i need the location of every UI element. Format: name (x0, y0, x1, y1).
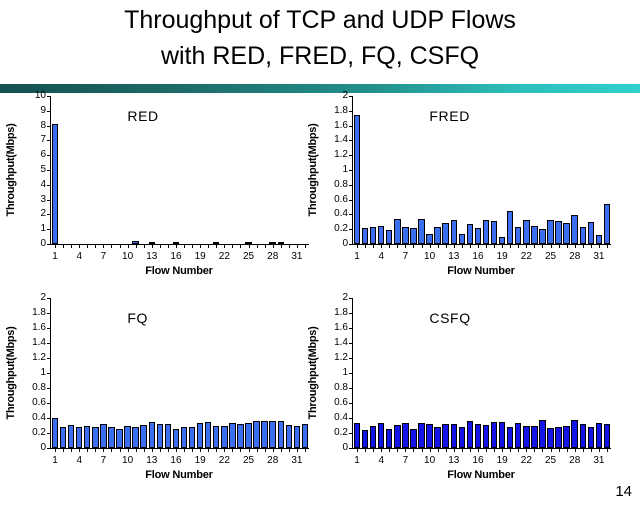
x-tick-mark (526, 449, 527, 452)
x-tick-mark (257, 449, 258, 452)
chart-red: Throughput(Mbps)012345678910147101316192… (4, 90, 316, 288)
bar (539, 229, 545, 244)
bar (555, 427, 561, 448)
bar (523, 220, 529, 244)
x-tick-label: 25 (243, 251, 254, 262)
y-tick-label: 1.6 (334, 324, 348, 332)
bar (483, 220, 489, 244)
x-tick-mark (281, 245, 282, 248)
bar (386, 429, 392, 448)
bar (459, 234, 465, 244)
x-tick-mark (502, 449, 503, 452)
x-tick-mark (494, 245, 495, 248)
bar (354, 423, 360, 448)
x-tick-mark (176, 449, 177, 452)
x-tick-mark (87, 245, 88, 248)
bar (539, 420, 545, 448)
bar (68, 425, 74, 448)
y-tick-label: 6 (40, 151, 46, 159)
x-tick-mark (510, 245, 511, 248)
bar (588, 427, 594, 448)
bar (149, 422, 155, 448)
bar (604, 424, 610, 448)
bar (278, 242, 284, 244)
x-tick-label: 7 (403, 251, 409, 262)
y-axis-label: Throughput(Mbps) (306, 96, 320, 244)
bar (588, 222, 594, 244)
bar (563, 426, 569, 448)
x-axis-line (50, 244, 309, 245)
chart-label-csfq: CSFQ (429, 310, 470, 326)
y-tick-label: 1.8 (32, 309, 46, 317)
plot-area-red (51, 96, 309, 244)
x-tick-label: 25 (243, 455, 254, 466)
x-tick-mark (103, 449, 104, 452)
plot-area-csfq (353, 298, 611, 448)
bar (491, 422, 497, 448)
bar (124, 426, 130, 449)
x-tick-label: 31 (593, 455, 604, 466)
bar (132, 427, 138, 448)
bar (555, 221, 561, 244)
x-tick-mark (240, 245, 241, 248)
bar (269, 242, 275, 244)
x-tick-mark (273, 449, 274, 452)
x-tick-mark (216, 245, 217, 248)
x-tick-mark (454, 245, 455, 248)
bar (386, 230, 392, 244)
x-tick-mark (63, 245, 64, 248)
x-tick-mark (63, 449, 64, 452)
y-tick-label: 1.8 (334, 309, 348, 317)
x-tick-label: 10 (122, 251, 133, 262)
y-tick-label: 1.2 (32, 354, 46, 362)
x-tick-mark (559, 449, 560, 452)
x-tick-mark (128, 245, 129, 248)
x-tick-mark (144, 449, 145, 452)
y-tick-label: 0.2 (334, 225, 348, 233)
y-tick-label: 0.6 (334, 196, 348, 204)
x-tick-mark (184, 449, 185, 452)
page-number: 14 (615, 483, 632, 500)
y-tick-label: 1 (40, 369, 46, 377)
bar (491, 221, 497, 244)
x-tick-mark (454, 449, 455, 452)
x-tick-mark (381, 449, 382, 452)
chart-label-red: RED (127, 108, 158, 124)
y-axis-label-text: Throughput(Mbps) (307, 327, 319, 420)
x-tick-mark (176, 245, 177, 248)
x-tick-mark (470, 449, 471, 452)
x-tick-mark (136, 449, 137, 452)
y-axis-label-text: Throughput(Mbps) (307, 124, 319, 217)
x-tick-label: 7 (403, 455, 409, 466)
bar (76, 427, 82, 448)
y-tick-label: 0 (40, 240, 46, 248)
bar (418, 423, 424, 448)
x-tick-mark (534, 449, 535, 452)
x-tick-mark (79, 245, 80, 248)
y-tick-label: 2 (40, 294, 46, 302)
y-axis-label-text: Throughput(Mbps) (5, 124, 17, 217)
bar (580, 424, 586, 448)
y-tick-label: 5 (40, 166, 46, 174)
x-tick-mark (607, 245, 608, 248)
y-tick-label: 1.6 (334, 122, 348, 130)
bar (149, 242, 155, 244)
x-tick-mark (136, 245, 137, 248)
y-tick-label: 0.6 (32, 399, 46, 407)
bar (189, 427, 195, 448)
x-tick-mark (216, 449, 217, 452)
chart-label-fred: FRED (429, 108, 470, 124)
x-axis-title: Flow Number (352, 265, 610, 277)
bar (547, 428, 553, 448)
x-tick-label: 22 (521, 251, 532, 262)
x-tick-label: 16 (472, 251, 483, 262)
y-tick-label: 1 (40, 225, 46, 233)
x-tick-mark (583, 245, 584, 248)
y-tick-label: 0.6 (334, 399, 348, 407)
x-tick-label: 10 (424, 251, 435, 262)
x-tick-label: 16 (170, 455, 181, 466)
bar (92, 427, 98, 448)
x-tick-mark (120, 449, 121, 452)
bar (596, 235, 602, 244)
x-tick-label: 19 (497, 251, 508, 262)
x-tick-mark (168, 245, 169, 248)
x-tick-mark (111, 449, 112, 452)
y-tick-label: 1.8 (334, 107, 348, 115)
bar (362, 430, 368, 448)
bar (362, 228, 368, 244)
y-tick-label: 2 (342, 92, 348, 100)
bar (459, 427, 465, 448)
y-axis-ticks: 00.20.40.60.811.21.41.61.82 (322, 96, 348, 244)
title-line-1: Throughput of TCP and UDP Flows (0, 2, 640, 38)
x-tick-label: 4 (76, 455, 82, 466)
x-tick-mark (534, 245, 535, 248)
bar (165, 424, 171, 448)
bar (475, 424, 481, 448)
x-tick-mark (289, 449, 290, 452)
x-tick-mark (591, 449, 592, 452)
x-tick-mark (55, 449, 56, 452)
x-tick-mark (422, 245, 423, 248)
bar (116, 429, 122, 449)
bar (418, 219, 424, 244)
x-tick-label: 16 (472, 455, 483, 466)
x-tick-label: 1 (52, 251, 58, 262)
x-tick-label: 25 (545, 455, 556, 466)
bar (294, 426, 300, 448)
y-tick-label: 0.8 (32, 384, 46, 392)
x-tick-mark (71, 245, 72, 248)
bar (370, 227, 376, 244)
x-tick-label: 10 (122, 455, 133, 466)
x-tick-mark (297, 245, 298, 248)
x-tick-mark (462, 245, 463, 248)
x-tick-mark (152, 449, 153, 452)
y-tick-label: 1.2 (334, 354, 348, 362)
x-tick-label: 1 (354, 455, 360, 466)
x-tick-label: 13 (448, 455, 459, 466)
bar (394, 425, 400, 448)
x-tick-mark (373, 245, 374, 248)
x-tick-mark (397, 449, 398, 452)
x-tick-mark (551, 449, 552, 452)
x-tick-label: 7 (101, 455, 107, 466)
bar (523, 426, 529, 449)
x-tick-mark (273, 245, 274, 248)
x-tick-mark (470, 245, 471, 248)
x-tick-mark (87, 449, 88, 452)
title-line-2: with RED, FRED, FQ, CSFQ (0, 38, 640, 74)
bar (475, 228, 481, 244)
x-tick-mark (413, 245, 414, 248)
bar (253, 421, 259, 448)
bar (434, 427, 440, 448)
x-tick-label: 19 (195, 455, 206, 466)
bar (261, 421, 267, 448)
x-tick-mark (373, 449, 374, 452)
bar (205, 422, 211, 448)
x-tick-label: 22 (219, 455, 230, 466)
x-axis-title: Flow Number (352, 469, 610, 481)
x-tick-mark (297, 449, 298, 452)
x-tick-mark (357, 245, 358, 248)
y-axis-ticks: 012345678910 (20, 96, 46, 244)
x-tick-mark (486, 245, 487, 248)
bar (213, 242, 219, 244)
y-tick-label: 1.2 (334, 151, 348, 159)
x-tick-label: 19 (497, 455, 508, 466)
x-tick-mark (111, 245, 112, 248)
x-tick-mark (120, 245, 121, 248)
x-tick-mark (446, 449, 447, 452)
x-tick-mark (478, 449, 479, 452)
x-tick-mark (381, 245, 382, 248)
bar (173, 242, 179, 244)
bar (354, 115, 360, 245)
x-tick-mark (357, 449, 358, 452)
bar (221, 426, 227, 448)
x-tick-mark (518, 245, 519, 248)
bar (52, 124, 58, 244)
x-tick-mark (192, 245, 193, 248)
y-tick-label: 1.4 (334, 339, 348, 347)
x-tick-mark (200, 245, 201, 248)
x-tick-mark (446, 245, 447, 248)
y-tick-label: 2 (342, 294, 348, 302)
x-tick-mark (281, 449, 282, 452)
bar (378, 226, 384, 245)
x-tick-mark (365, 245, 366, 248)
y-tick-label: 0 (342, 240, 348, 248)
x-tick-mark (567, 449, 568, 452)
plot-area-fred (353, 96, 611, 244)
x-tick-label: 13 (448, 251, 459, 262)
x-tick-mark (430, 449, 431, 452)
bar (580, 227, 586, 244)
bar (108, 427, 114, 448)
x-tick-mark (71, 449, 72, 452)
x-tick-label: 31 (593, 251, 604, 262)
y-axis-label: Throughput(Mbps) (306, 298, 320, 448)
x-tick-label: 10 (424, 455, 435, 466)
y-tick-label: 0 (342, 444, 348, 452)
x-tick-mark (200, 449, 201, 452)
chart-label-fq: FQ (127, 310, 148, 326)
y-tick-label: 0.4 (32, 414, 46, 422)
y-axis-label: Throughput(Mbps) (4, 298, 18, 448)
bar (596, 423, 602, 448)
y-tick-label: 4 (40, 181, 46, 189)
bar (245, 242, 251, 244)
x-tick-mark (168, 449, 169, 452)
x-tick-label: 1 (52, 455, 58, 466)
bar (402, 227, 408, 244)
bar (515, 227, 521, 244)
bar (571, 420, 577, 448)
x-tick-label: 16 (170, 251, 181, 262)
y-tick-label: 9 (40, 107, 46, 115)
x-tick-mark (542, 449, 543, 452)
x-tick-mark (542, 245, 543, 248)
y-tick-label: 0.2 (334, 429, 348, 437)
x-tick-mark (430, 245, 431, 248)
bar (531, 426, 537, 448)
bar (451, 220, 457, 244)
x-tick-mark (257, 245, 258, 248)
bar (531, 226, 537, 244)
x-tick-label: 28 (569, 455, 580, 466)
bar (84, 426, 90, 449)
y-tick-label: 8 (40, 122, 46, 130)
x-tick-mark (591, 245, 592, 248)
bar (60, 427, 66, 448)
bar (197, 423, 203, 448)
x-tick-mark (192, 449, 193, 452)
bar (229, 423, 235, 449)
bar (370, 426, 376, 448)
bar (451, 424, 457, 448)
chart-fq: Throughput(Mbps)00.20.40.60.811.21.41.61… (4, 292, 316, 492)
bar (410, 429, 416, 449)
y-axis-label-text: Throughput(Mbps) (5, 327, 17, 420)
x-tick-mark (79, 449, 80, 452)
x-axis-title: Flow Number (50, 469, 308, 481)
x-tick-mark (144, 245, 145, 248)
plot-area-fq (51, 298, 309, 448)
page-title: Throughput of TCP and UDP Flows with RED… (0, 2, 640, 74)
x-tick-mark (160, 449, 161, 452)
x-tick-mark (365, 449, 366, 452)
x-tick-label: 19 (195, 251, 206, 262)
y-tick-label: 1.4 (32, 339, 46, 347)
y-tick-label: 3 (40, 196, 46, 204)
x-tick-mark (422, 449, 423, 452)
slide-canvas: Throughput of TCP and UDP Flows with RED… (0, 0, 640, 512)
x-tick-mark (95, 449, 96, 452)
bar (181, 427, 187, 448)
bar (547, 220, 553, 244)
x-tick-label: 13 (146, 251, 157, 262)
bar (467, 421, 473, 448)
chart-fred: Throughput(Mbps)00.20.40.60.811.21.41.61… (306, 90, 618, 288)
x-axis-line (352, 244, 611, 245)
y-axis-ticks: 00.20.40.60.811.21.41.61.82 (20, 298, 46, 448)
x-tick-mark (599, 449, 600, 452)
y-tick-label: 0.4 (334, 414, 348, 422)
bar (442, 223, 448, 244)
y-tick-label: 0.8 (334, 384, 348, 392)
x-axis-line (352, 448, 611, 449)
x-tick-mark (128, 449, 129, 452)
bar (499, 422, 505, 448)
x-tick-mark (160, 245, 161, 248)
bar (52, 418, 58, 448)
y-tick-label: 0.4 (334, 210, 348, 218)
x-tick-label: 28 (267, 455, 278, 466)
x-tick-mark (559, 245, 560, 248)
bar (507, 211, 513, 244)
x-tick-mark (478, 245, 479, 248)
x-tick-mark (232, 245, 233, 248)
bar (213, 426, 219, 448)
x-tick-mark (232, 449, 233, 452)
x-tick-label: 28 (569, 251, 580, 262)
x-tick-mark (438, 245, 439, 248)
x-tick-mark (265, 245, 266, 248)
x-tick-label: 1 (354, 251, 360, 262)
bar (507, 427, 513, 448)
y-tick-label: 1.6 (32, 324, 46, 332)
bar (442, 424, 448, 448)
bar (157, 424, 163, 448)
x-tick-mark (224, 449, 225, 452)
x-tick-mark (510, 449, 511, 452)
x-tick-label: 25 (545, 251, 556, 262)
y-tick-label: 7 (40, 136, 46, 144)
bar (378, 423, 384, 449)
x-tick-mark (397, 245, 398, 248)
x-tick-mark (389, 245, 390, 248)
x-tick-mark (289, 245, 290, 248)
x-tick-mark (567, 245, 568, 248)
x-tick-mark (152, 245, 153, 248)
x-axis-line (50, 448, 309, 449)
x-tick-label: 4 (76, 251, 82, 262)
x-tick-mark (55, 245, 56, 248)
y-tick-label: 1 (342, 166, 348, 174)
y-tick-label: 0.8 (334, 181, 348, 189)
x-tick-mark (240, 449, 241, 452)
x-tick-mark (526, 245, 527, 248)
x-tick-mark (389, 449, 390, 452)
bar (140, 425, 146, 448)
bar (563, 223, 569, 244)
bar (426, 424, 432, 448)
bar (410, 228, 416, 244)
bar (402, 423, 408, 448)
x-tick-mark (583, 449, 584, 452)
x-tick-label: 22 (521, 455, 532, 466)
y-tick-label: 10 (35, 92, 46, 100)
y-tick-label: 0.2 (32, 429, 46, 437)
y-tick-label: 1.4 (334, 136, 348, 144)
bar (515, 423, 521, 448)
